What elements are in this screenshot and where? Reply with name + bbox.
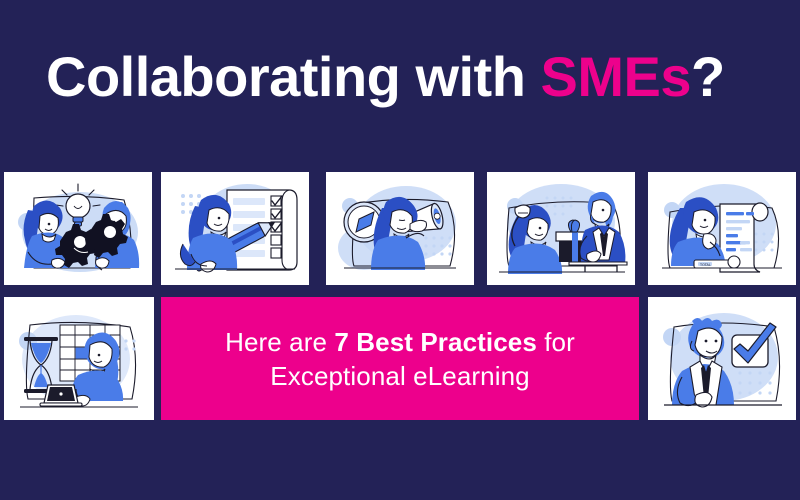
- gift-celebration-icon: [487, 172, 635, 285]
- header-band: Collaborating with SMEs?: [0, 0, 800, 168]
- panel-telescope-vision: [326, 172, 474, 285]
- infographic-canvas: Collaborating with SMEs?: [0, 0, 800, 500]
- panel-collaboration-gears: [4, 172, 152, 285]
- page-title-question-mark: ?: [691, 45, 725, 108]
- panel-time-management: [4, 297, 154, 420]
- cta-banner: Here are 7 Best Practices for Exceptiona…: [161, 297, 639, 420]
- panel-document-review: TOTAL: [648, 172, 796, 285]
- page-title: Collaborating with SMEs?: [46, 46, 725, 108]
- banner-line-1-prefix: Here are: [225, 327, 334, 357]
- checkmark-approval-icon: [648, 297, 796, 420]
- banner-line-1-suffix: for: [537, 327, 575, 357]
- banner-line-1: Here are 7 Best Practices for: [225, 325, 575, 359]
- scroll-document-icon: TOTAL: [648, 172, 796, 285]
- gears-lightbulb-icon: [4, 172, 152, 285]
- page-title-part1: Collaborating with: [46, 45, 540, 108]
- panel-approval-check: [648, 297, 796, 420]
- panel-celebration-gift: [487, 172, 635, 285]
- checklist-pencil-icon: [161, 172, 309, 285]
- panel-checklist-pencil: [161, 172, 309, 285]
- panel-5-total-label: TOTAL: [699, 263, 711, 267]
- banner-line-2: Exceptional eLearning: [270, 359, 529, 393]
- banner-line-1-bold: 7 Best Practices: [334, 327, 537, 357]
- page-title-highlight: SMEs: [540, 45, 691, 108]
- hourglass-calendar-icon: [4, 297, 154, 420]
- telescope-compass-icon: [326, 172, 474, 285]
